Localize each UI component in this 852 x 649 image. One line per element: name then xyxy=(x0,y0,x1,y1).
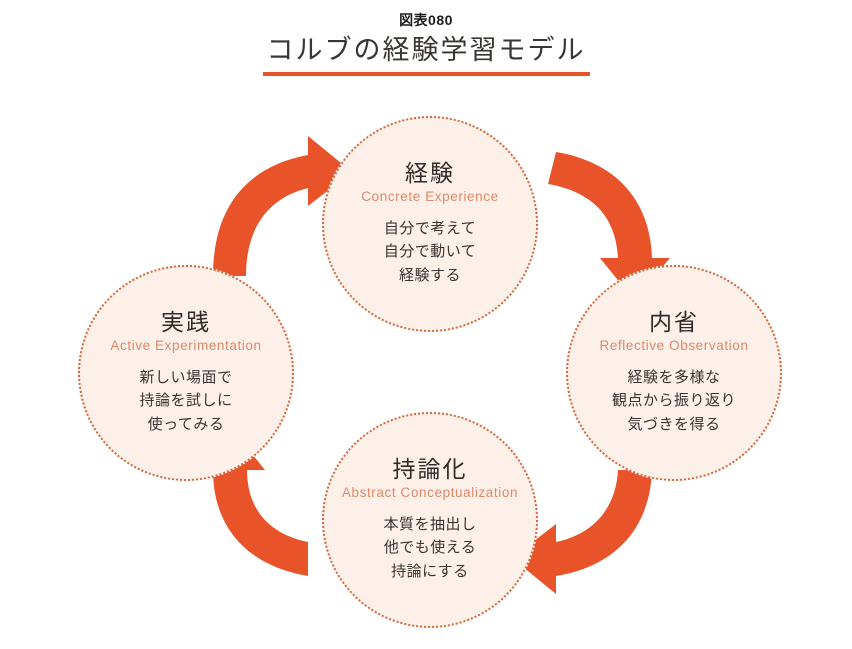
node-description: 本質を抽出し 他でも使える 持論にする xyxy=(383,513,476,583)
node-title-jp: 経験 xyxy=(405,161,455,186)
node-description-line: 自分で動いて xyxy=(384,240,477,263)
node-description-line: 経験を多様な xyxy=(612,366,736,389)
node-description-line: 本質を抽出し xyxy=(383,513,476,536)
node-description-line: 使ってみる xyxy=(139,413,232,436)
node-description-line: 気づきを得る xyxy=(612,413,736,436)
node-description-line: 新しい場面で xyxy=(139,366,232,389)
node-title-en: Reflective Observation xyxy=(599,339,748,354)
node-description-line: 持論を試しに xyxy=(139,389,232,412)
kolb-cycle-diagram: 経験 Concrete Experience 自分で考えて 自分で動いて 経験す… xyxy=(0,0,852,649)
node-description-line: 観点から振り返り xyxy=(612,389,736,412)
node-description-line: 他でも使える xyxy=(383,536,476,559)
node-title-en: Abstract Conceptualization xyxy=(342,486,518,501)
cycle-node-reflective-observation[interactable]: 内省 Reflective Observation 経験を多様な 観点から振り返… xyxy=(566,265,782,481)
node-description: 経験を多様な 観点から振り返り 気づきを得る xyxy=(612,366,736,436)
node-description-line: 自分で考えて xyxy=(384,217,477,240)
node-title-jp: 実践 xyxy=(161,310,211,335)
node-title-jp: 内省 xyxy=(649,310,699,335)
node-description: 新しい場面で 持論を試しに 使ってみる xyxy=(139,366,232,436)
cycle-node-concrete-experience[interactable]: 経験 Concrete Experience 自分で考えて 自分で動いて 経験す… xyxy=(322,116,538,332)
node-description-line: 持論にする xyxy=(383,560,476,583)
node-title-en: Active Experimentation xyxy=(110,339,261,354)
node-title-jp: 持論化 xyxy=(393,457,468,482)
cycle-node-abstract-conceptualization[interactable]: 持論化 Abstract Conceptualization 本質を抽出し 他で… xyxy=(322,412,538,628)
node-description-line: 経験する xyxy=(384,264,477,287)
cycle-node-active-experimentation[interactable]: 実践 Active Experimentation 新しい場面で 持論を試しに … xyxy=(78,265,294,481)
node-description: 自分で考えて 自分で動いて 経験する xyxy=(384,217,477,287)
node-title-en: Concrete Experience xyxy=(361,190,498,205)
